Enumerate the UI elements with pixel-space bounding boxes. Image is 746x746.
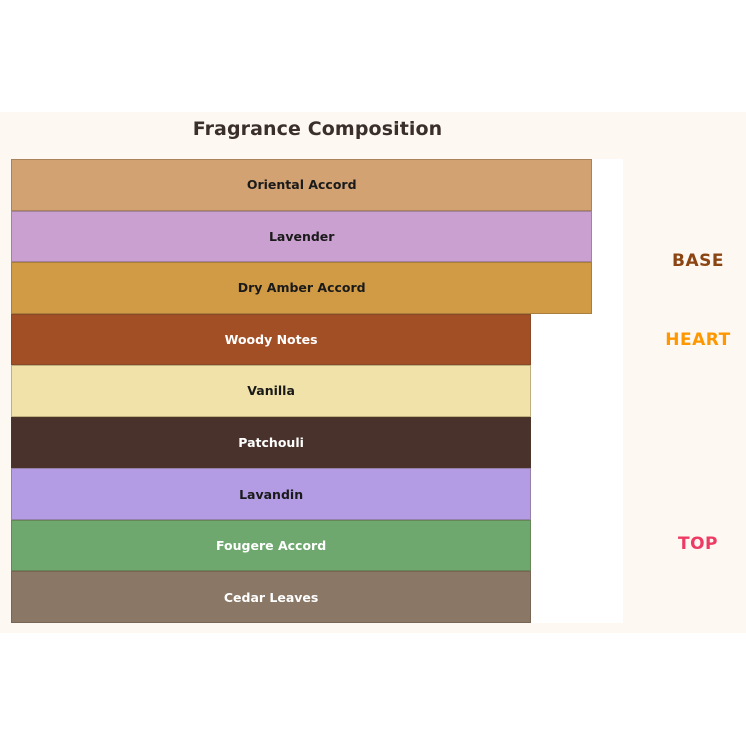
bar-row: Oriental Accord (11, 159, 623, 211)
bar-fougere-accord[interactable] (11, 520, 531, 572)
bar-patchouli[interactable] (11, 417, 531, 469)
bar-cedar-leaves[interactable] (11, 571, 531, 623)
stage-label-base: BASE (672, 251, 724, 271)
bar-lavandin[interactable] (11, 468, 531, 520)
stage-label-heart: HEART (665, 330, 730, 350)
bar-row: Fougere Accord (11, 520, 623, 572)
bar-vanilla[interactable] (11, 365, 531, 417)
bar-row: Patchouli (11, 417, 623, 469)
bar-lavender[interactable] (11, 211, 592, 263)
bar-row: Lavandin (11, 468, 623, 520)
bar-row: Dry Amber Accord (11, 262, 623, 314)
bar-dry-amber-accord[interactable] (11, 262, 592, 314)
bar-row: Lavender (11, 211, 623, 263)
bar-oriental-accord[interactable] (11, 159, 592, 211)
bar-woody-notes[interactable] (11, 314, 531, 366)
stage-label-top: TOP (678, 534, 718, 554)
fragrance-composition-figure: Fragrance Composition Oriental AccordLav… (0, 112, 746, 633)
bar-row: Woody Notes (11, 314, 623, 366)
bar-row: Cedar Leaves (11, 571, 623, 623)
plot-area: Oriental AccordLavenderDry Amber AccordW… (11, 159, 623, 623)
bar-row: Vanilla (11, 365, 623, 417)
chart-title: Fragrance Composition (0, 118, 635, 140)
